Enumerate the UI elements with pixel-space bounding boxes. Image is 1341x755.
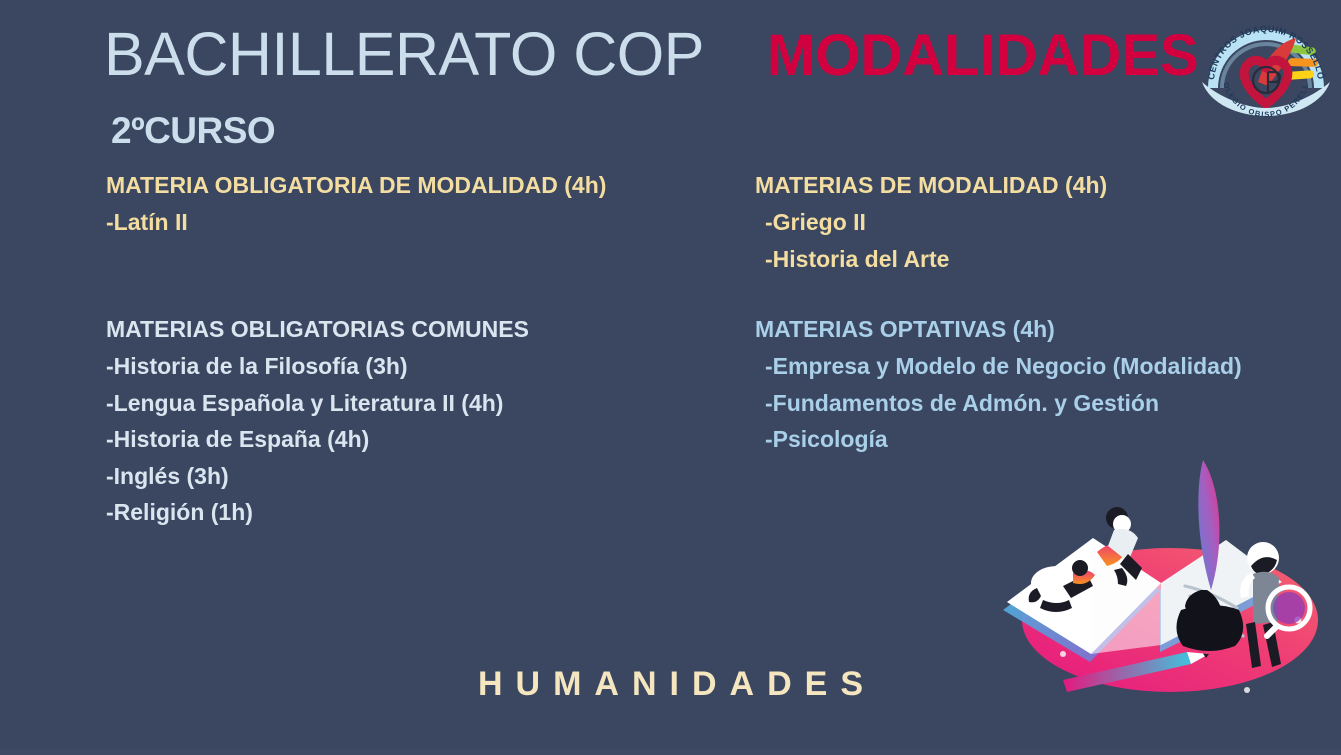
- subject-item: -Historia de España (4h): [106, 421, 746, 458]
- section-heading: MATERIAS OBLIGATORIAS COMUNES: [106, 310, 746, 348]
- subject-item: -Lengua Española y Literatura II (4h): [106, 385, 746, 422]
- subject-item: -Latín II: [106, 204, 746, 241]
- section-heading: MATERIAS DE MODALIDAD (4h): [755, 166, 1315, 204]
- subject-item: -Fundamentos de Admón. y Gestión: [755, 385, 1315, 422]
- subject-item: -Religión (1h): [106, 494, 746, 531]
- subject-item: -Inglés (3h): [106, 458, 746, 495]
- subject-item: -Historia del Arte: [755, 241, 1315, 278]
- bottom-edge-band: [0, 749, 1341, 755]
- school-logo: CENTROS JOAQUIM ROSSELLÓ COLEGIO OBISPO …: [1196, 8, 1336, 118]
- section-materias-de-modalidad: MATERIAS DE MODALIDAD (4h) -Griego II -H…: [755, 166, 1315, 277]
- course-subtitle: 2ºCURSO: [111, 108, 275, 154]
- slide-title-row: BACHILLERATO COP MODALIDADES: [104, 18, 1199, 92]
- subject-item: -Empresa y Modelo de Negocio (Modalidad): [755, 348, 1315, 385]
- section-materias-obligatorias-comunes: MATERIAS OBLIGATORIAS COMUNES -Historia …: [106, 310, 746, 531]
- subject-item: -Griego II: [755, 204, 1315, 241]
- slide-root: BACHILLERATO COP MODALIDADES 2ºCURSO MAT…: [0, 0, 1341, 755]
- section-materia-obligatoria-modalidad: MATERIA OBLIGATORIA DE MODALIDAD (4h) -L…: [106, 166, 746, 241]
- page-title-accent: MODALIDADES: [767, 20, 1199, 92]
- section-heading: MATERIAS OPTATIVAS (4h): [755, 310, 1315, 348]
- section-materias-optativas: MATERIAS OPTATIVAS (4h) -Empresa y Model…: [755, 310, 1315, 458]
- book-quill-illustration: [985, 440, 1330, 700]
- section-heading: MATERIA OBLIGATORIA DE MODALIDAD (4h): [106, 166, 746, 204]
- page-title: BACHILLERATO COP: [104, 18, 704, 90]
- subject-item: -Historia de la Filosofía (3h): [106, 348, 746, 385]
